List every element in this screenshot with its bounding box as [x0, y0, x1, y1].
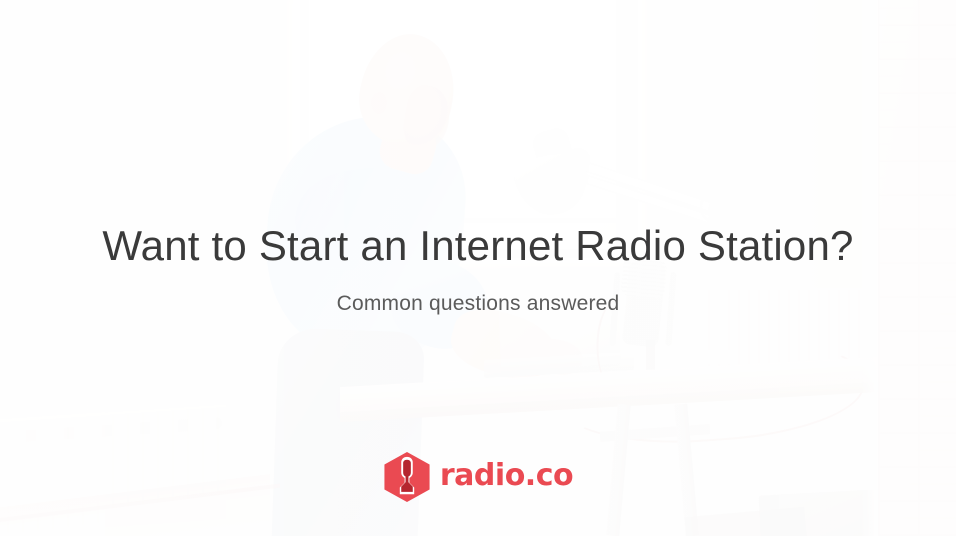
- logo-wordmark: radio.co: [440, 461, 573, 493]
- slide-canvas: Want to Start an Internet Radio Station?…: [0, 0, 956, 536]
- page-title: Want to Start an Internet Radio Station?: [0, 224, 956, 268]
- brand-logo[interactable]: radio.co: [0, 452, 956, 502]
- hexagon-microphone-icon: [383, 452, 431, 502]
- slide-content: Want to Start an Internet Radio Station?…: [0, 0, 956, 536]
- page-subtitle: Common questions answered: [0, 292, 956, 316]
